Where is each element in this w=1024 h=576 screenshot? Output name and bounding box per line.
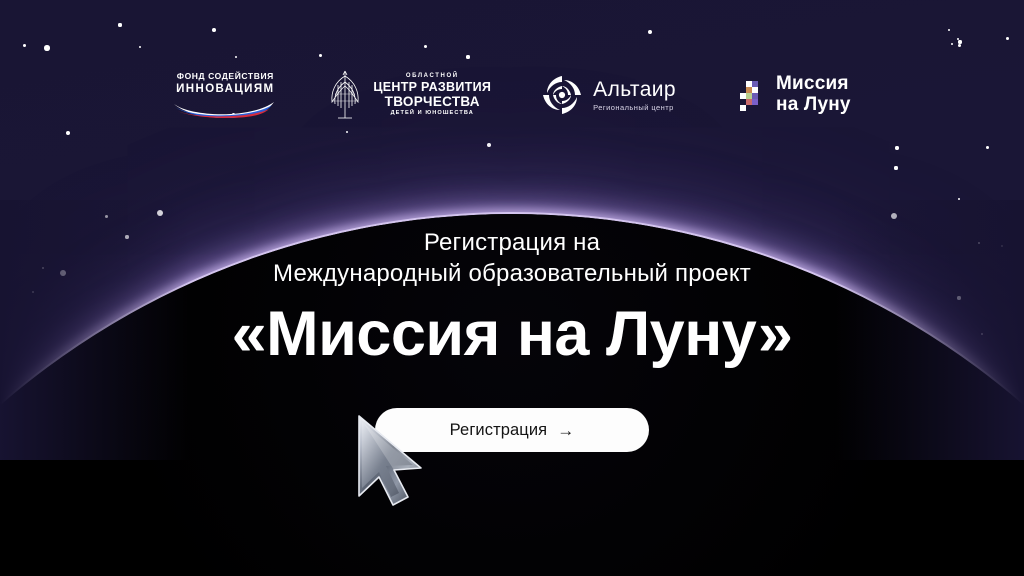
arrow-right-icon: → (557, 422, 574, 439)
star (466, 55, 469, 58)
logo-altair-text: Альтаир Региональный центр (593, 79, 676, 112)
star (986, 146, 989, 149)
star (319, 54, 322, 57)
hero-kicker-line2: Международный образовательный проект (0, 259, 1024, 290)
star (44, 45, 49, 50)
logo-centr-line1: ОБЛАСТНОЙ (406, 73, 459, 79)
logo-altair-line2: Региональный центр (593, 104, 676, 112)
star (212, 28, 216, 32)
logo-altair[interactable]: Альтаир Региональный центр (539, 72, 676, 118)
logo-centr-line3: ТВОРЧЕСТВА (385, 95, 480, 109)
star (648, 30, 652, 34)
hero-kicker-line1: Регистрация на (0, 228, 1024, 259)
star (1006, 37, 1009, 40)
promo-banner: ФОНД СОДЕЙСТВИЯ ИННОВАЦИЯМ (0, 0, 1024, 576)
logo-missiya-text: Миссия на Луну (776, 74, 851, 115)
logo-fond-line2: ИННОВАЦИЯМ (176, 84, 274, 96)
crescent-moon-pixels-icon (724, 73, 768, 117)
registration-button[interactable]: Регистрация → (375, 408, 649, 452)
logo-altair-line1: Альтаир (593, 79, 676, 100)
star (23, 44, 26, 47)
logo-missiya-line2: на Луну (776, 95, 851, 116)
tree-icon (325, 68, 365, 122)
spiral-galaxy-icon (539, 72, 585, 118)
hero-kicker: Регистрация на Международный образовател… (0, 228, 1024, 289)
logo-fond-line1: ФОНД СОДЕЙСТВИЯ (177, 72, 274, 81)
star (66, 131, 70, 135)
logo-fond-sodeystviya-innovaciyam[interactable]: ФОНД СОДЕЙСТВИЯ ИННОВАЦИЯМ (173, 72, 277, 118)
page-title: «Миссия на Луну» (0, 303, 1024, 366)
logo-centr-line4: ДЕТЕЙ И ЮНОШЕСТВА (391, 111, 474, 117)
logo-centr-text: ОБЛАСТНОЙ ЦЕНТР РАЗВИТИЯ ТВОРЧЕСТВА ДЕТЕ… (373, 73, 491, 117)
tricolor-wave-icon (173, 100, 277, 118)
star (894, 166, 897, 169)
logo-centr-line2: ЦЕНТР РАЗВИТИЯ (373, 81, 491, 94)
logo-missiya-na-lunu[interactable]: Миссия на Луну (724, 73, 851, 117)
registration-button-label: Регистрация (450, 421, 548, 440)
partner-logo-row: ФОНД СОДЕЙСТВИЯ ИННОВАЦИЯМ (0, 68, 1024, 122)
hero-copy: Регистрация на Международный образовател… (0, 228, 1024, 366)
star (105, 215, 108, 218)
star (895, 146, 898, 149)
star (424, 45, 427, 48)
logo-centr-razvitiya-tvorchestva[interactable]: ОБЛАСТНОЙ ЦЕНТР РАЗВИТИЯ ТВОРЧЕСТВА ДЕТЕ… (325, 68, 491, 122)
star (958, 44, 961, 47)
star (118, 23, 121, 26)
cta-area: Регистрация → (0, 408, 1024, 452)
logo-missiya-line1: Миссия (776, 74, 851, 95)
